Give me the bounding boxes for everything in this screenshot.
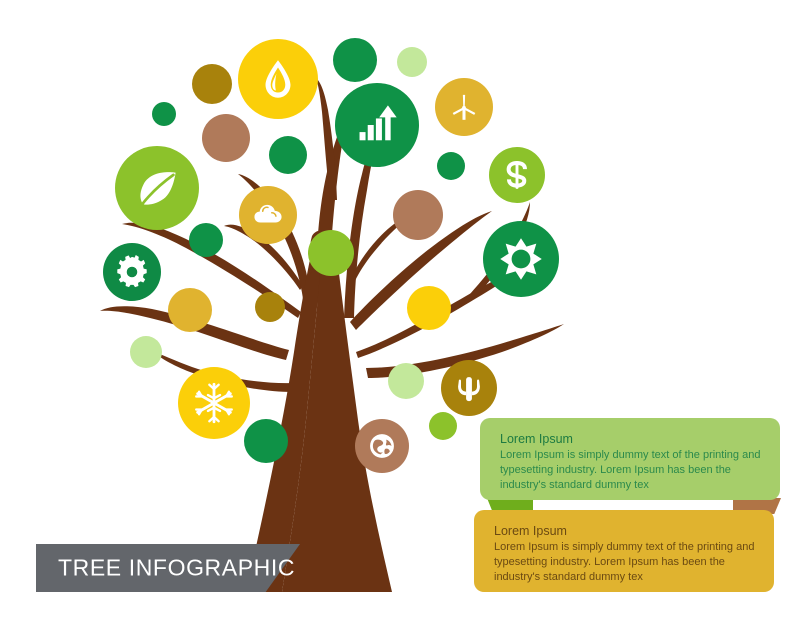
wind-turbine-icon-node[interactable]: [435, 78, 493, 136]
decor-circle: [168, 288, 212, 332]
decor-circle: [202, 114, 250, 162]
cloud-icon-node[interactable]: [239, 186, 297, 244]
callout-gold-title: Lorem Ipsum: [494, 524, 756, 538]
infographic-canvas: TREE INFOGRAPHIC Lorem Ipsum Lorem Ipsum…: [0, 0, 800, 623]
sun-icon-node[interactable]: [483, 221, 559, 297]
tree-trunk: [246, 230, 392, 592]
leaf-icon-node[interactable]: [115, 146, 199, 230]
gear-icon-node[interactable]: [103, 243, 161, 301]
decor-circle: [255, 292, 285, 322]
callout-green-body: Lorem Ipsum is simply dummy text of the …: [500, 448, 762, 494]
globe-icon-node[interactable]: [355, 419, 409, 473]
decor-circle: [269, 136, 307, 174]
callout-gold-body: Lorem Ipsum is simply dummy text of the …: [494, 540, 756, 586]
decor-circle: [189, 223, 223, 257]
snowflake-icon-node[interactable]: [178, 367, 250, 439]
callout-green[interactable]: Lorem Ipsum Lorem Ipsum is simply dummy …: [480, 418, 780, 500]
decor-circle: [308, 230, 354, 276]
growth-chart-icon-node[interactable]: [335, 83, 419, 167]
callout-gold[interactable]: Lorem Ipsum Lorem Ipsum is simply dummy …: [474, 510, 774, 592]
decor-circle: [244, 419, 288, 463]
decor-circle: [192, 64, 232, 104]
decor-circle: [397, 47, 427, 77]
decor-circle: [407, 286, 451, 330]
page-title: TREE INFOGRAPHIC: [58, 555, 295, 582]
decor-circle: [393, 190, 443, 240]
title-banner: TREE INFOGRAPHIC: [36, 544, 300, 592]
decor-circle: [388, 363, 424, 399]
decor-circle: [152, 102, 176, 126]
dollar-icon-node[interactable]: [489, 147, 545, 203]
decor-circle: [429, 412, 457, 440]
decor-circle: [437, 152, 465, 180]
decor-circle: [333, 38, 377, 82]
water-drop-icon-node[interactable]: [238, 39, 318, 119]
decor-circle: [130, 336, 162, 368]
sun-icon: [500, 238, 541, 279]
cactus-icon-node[interactable]: [441, 360, 497, 416]
callout-green-title: Lorem Ipsum: [500, 432, 762, 446]
globe-icon: [370, 434, 394, 458]
water-drop-icon-disc[interactable]: [238, 39, 318, 119]
